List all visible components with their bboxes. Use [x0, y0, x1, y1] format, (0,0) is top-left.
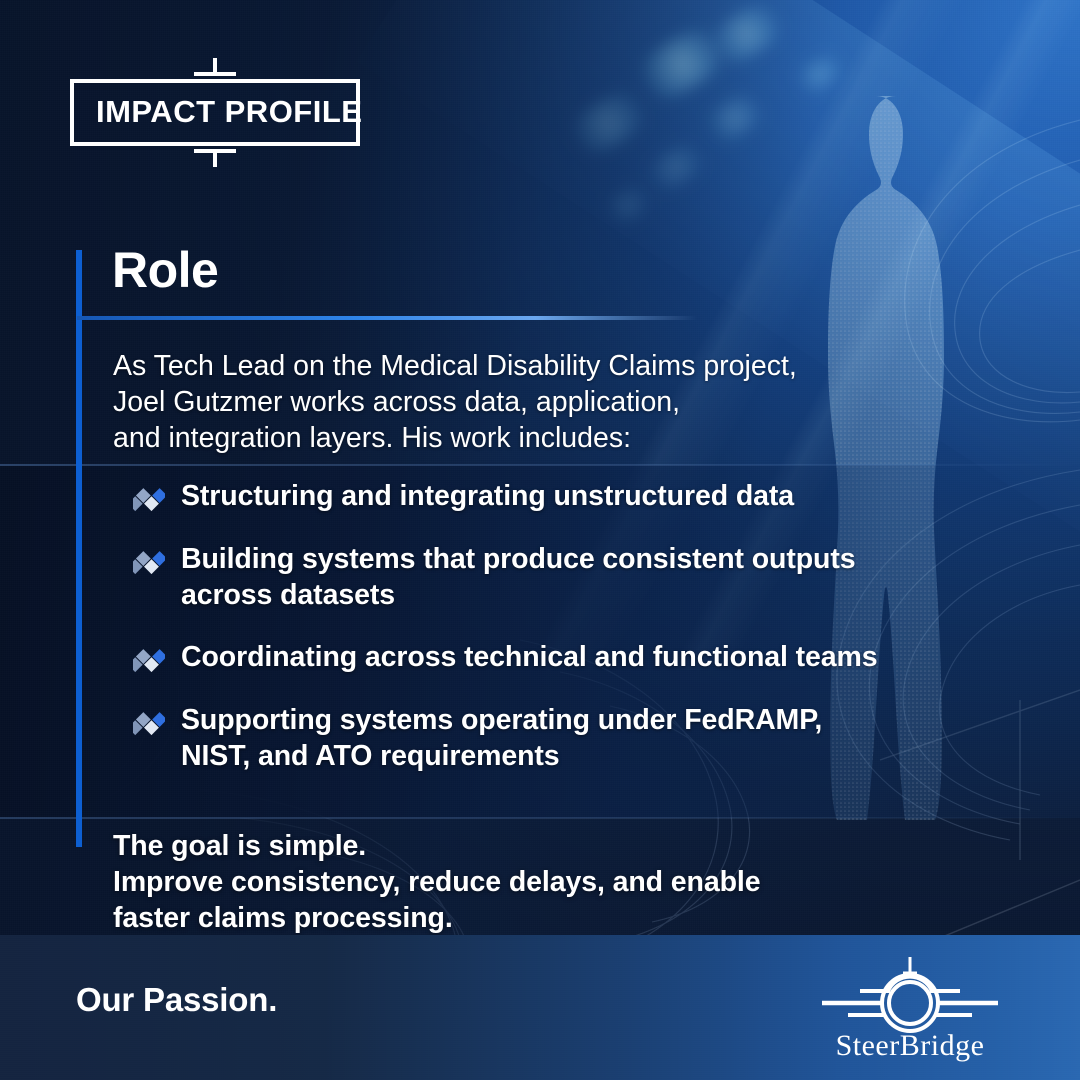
diamond-cluster-icon — [133, 544, 165, 578]
vertical-accent-bar — [76, 250, 82, 847]
closing-line: Improve consistency, reduce delays, and … — [113, 864, 973, 900]
svg-text:SteerBridge: SteerBridge — [836, 1029, 985, 1062]
lead-line: As Tech Lead on the Medical Disability C… — [113, 348, 943, 384]
list-item-line: Building systems that produce consistent… — [181, 541, 856, 577]
closing-statement: The goal is simple. Improve consistency,… — [113, 828, 973, 936]
impact-profile-badge: IMPACT PROFILE — [70, 58, 360, 167]
list-item-line: NIST, and ATO requirements — [181, 738, 822, 774]
steerbridge-logo: SteerBridge — [804, 953, 1016, 1063]
tick-stem-top-icon — [213, 58, 217, 72]
diamond-cluster-icon — [133, 642, 165, 676]
list-item: Building systems that produce consistent… — [133, 541, 1013, 613]
list-item: Supporting systems operating under FedRA… — [133, 702, 1013, 774]
list-item-line: Supporting systems operating under FedRA… — [181, 702, 822, 738]
list-item: Coordinating across technical and functi… — [133, 639, 1013, 676]
list-item-text: Supporting systems operating under FedRA… — [181, 702, 822, 774]
steerbridge-helm-icon — [822, 957, 998, 1031]
logo-wordmark-second: Bridge — [900, 1029, 985, 1062]
list-item-line: Coordinating across technical and functi… — [181, 639, 878, 675]
list-item: Structuring and integrating unstructured… — [133, 478, 1013, 515]
list-item-line: Structuring and integrating unstructured… — [181, 478, 794, 514]
diamond-cluster-icon — [133, 481, 165, 515]
tick-bar-top-icon — [194, 72, 236, 76]
impact-profile-card: IMPACT PROFILE Role As Tech Lead on the … — [0, 0, 1080, 1080]
bullet-list: Structuring and integrating unstructured… — [133, 478, 1013, 774]
logo-wordmark-first: Steer — [836, 1029, 900, 1062]
lead-line: Joel Gutzmer works across data, applicat… — [113, 384, 943, 420]
footer-bar: Our Passion. — [0, 935, 1080, 1080]
badge-label: IMPACT PROFILE — [96, 96, 334, 127]
lead-paragraph: As Tech Lead on the Medical Disability C… — [113, 348, 943, 456]
section-heading: Role — [112, 245, 218, 295]
heading-divider — [77, 316, 697, 320]
badge-box: IMPACT PROFILE — [70, 79, 360, 146]
list-item-text: Structuring and integrating unstructured… — [181, 478, 794, 514]
closing-line: The goal is simple. — [113, 828, 973, 864]
list-item-line: across datasets — [181, 577, 856, 613]
closing-line: faster claims processing. — [113, 900, 973, 936]
footer-tagline: Our Passion. — [76, 981, 277, 1019]
list-item-text: Building systems that produce consistent… — [181, 541, 856, 613]
tick-stem-bottom-icon — [213, 153, 217, 167]
diamond-cluster-icon — [133, 705, 165, 739]
lead-line: and integration layers. His work include… — [113, 420, 943, 456]
list-item-text: Coordinating across technical and functi… — [181, 639, 878, 675]
